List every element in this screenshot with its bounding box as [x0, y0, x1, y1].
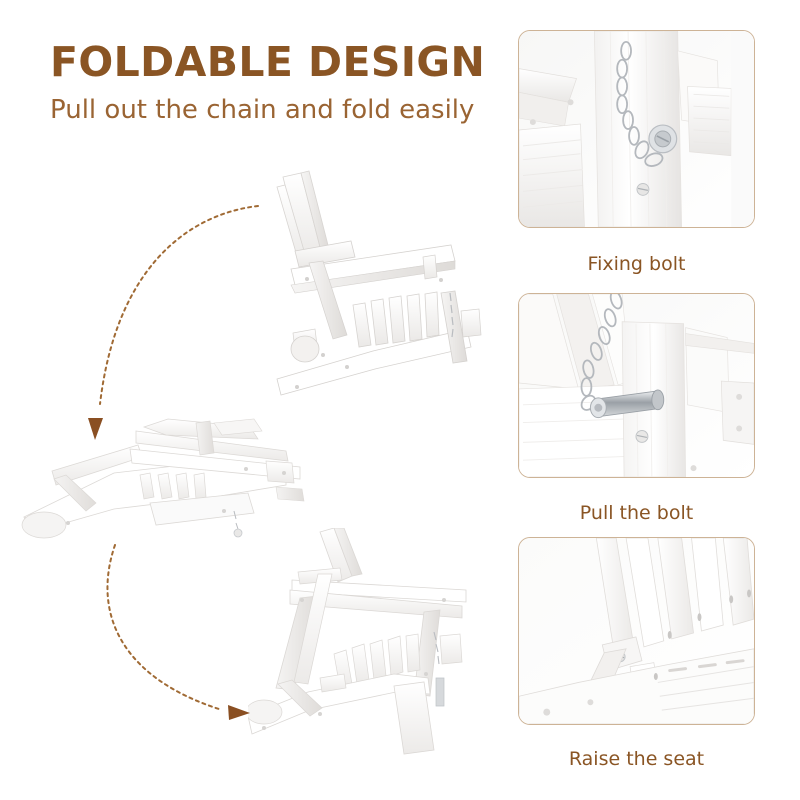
- detail-caption-pull-the-bolt: Pull the bolt: [518, 502, 755, 524]
- chair-mid-fold-figure: [248, 528, 498, 763]
- chair-upright-figure: [255, 165, 505, 415]
- detail-caption-raise-the-seat: Raise the seat: [518, 748, 755, 770]
- detail-panel-fixing-bolt: [518, 30, 755, 228]
- detail-caption-fixing-bolt: Fixing bolt: [518, 253, 755, 275]
- folding-sequence-illustration: [0, 150, 505, 800]
- detail-panel-pull-the-bolt: [518, 293, 755, 478]
- infographic-page: FOLDABLE DESIGN Pull out the chain and f…: [0, 0, 800, 800]
- page-title: FOLDABLE DESIGN: [50, 42, 485, 83]
- detail-panel-raise-the-seat: [518, 537, 755, 725]
- page-subtitle: Pull out the chain and fold easily: [50, 96, 474, 126]
